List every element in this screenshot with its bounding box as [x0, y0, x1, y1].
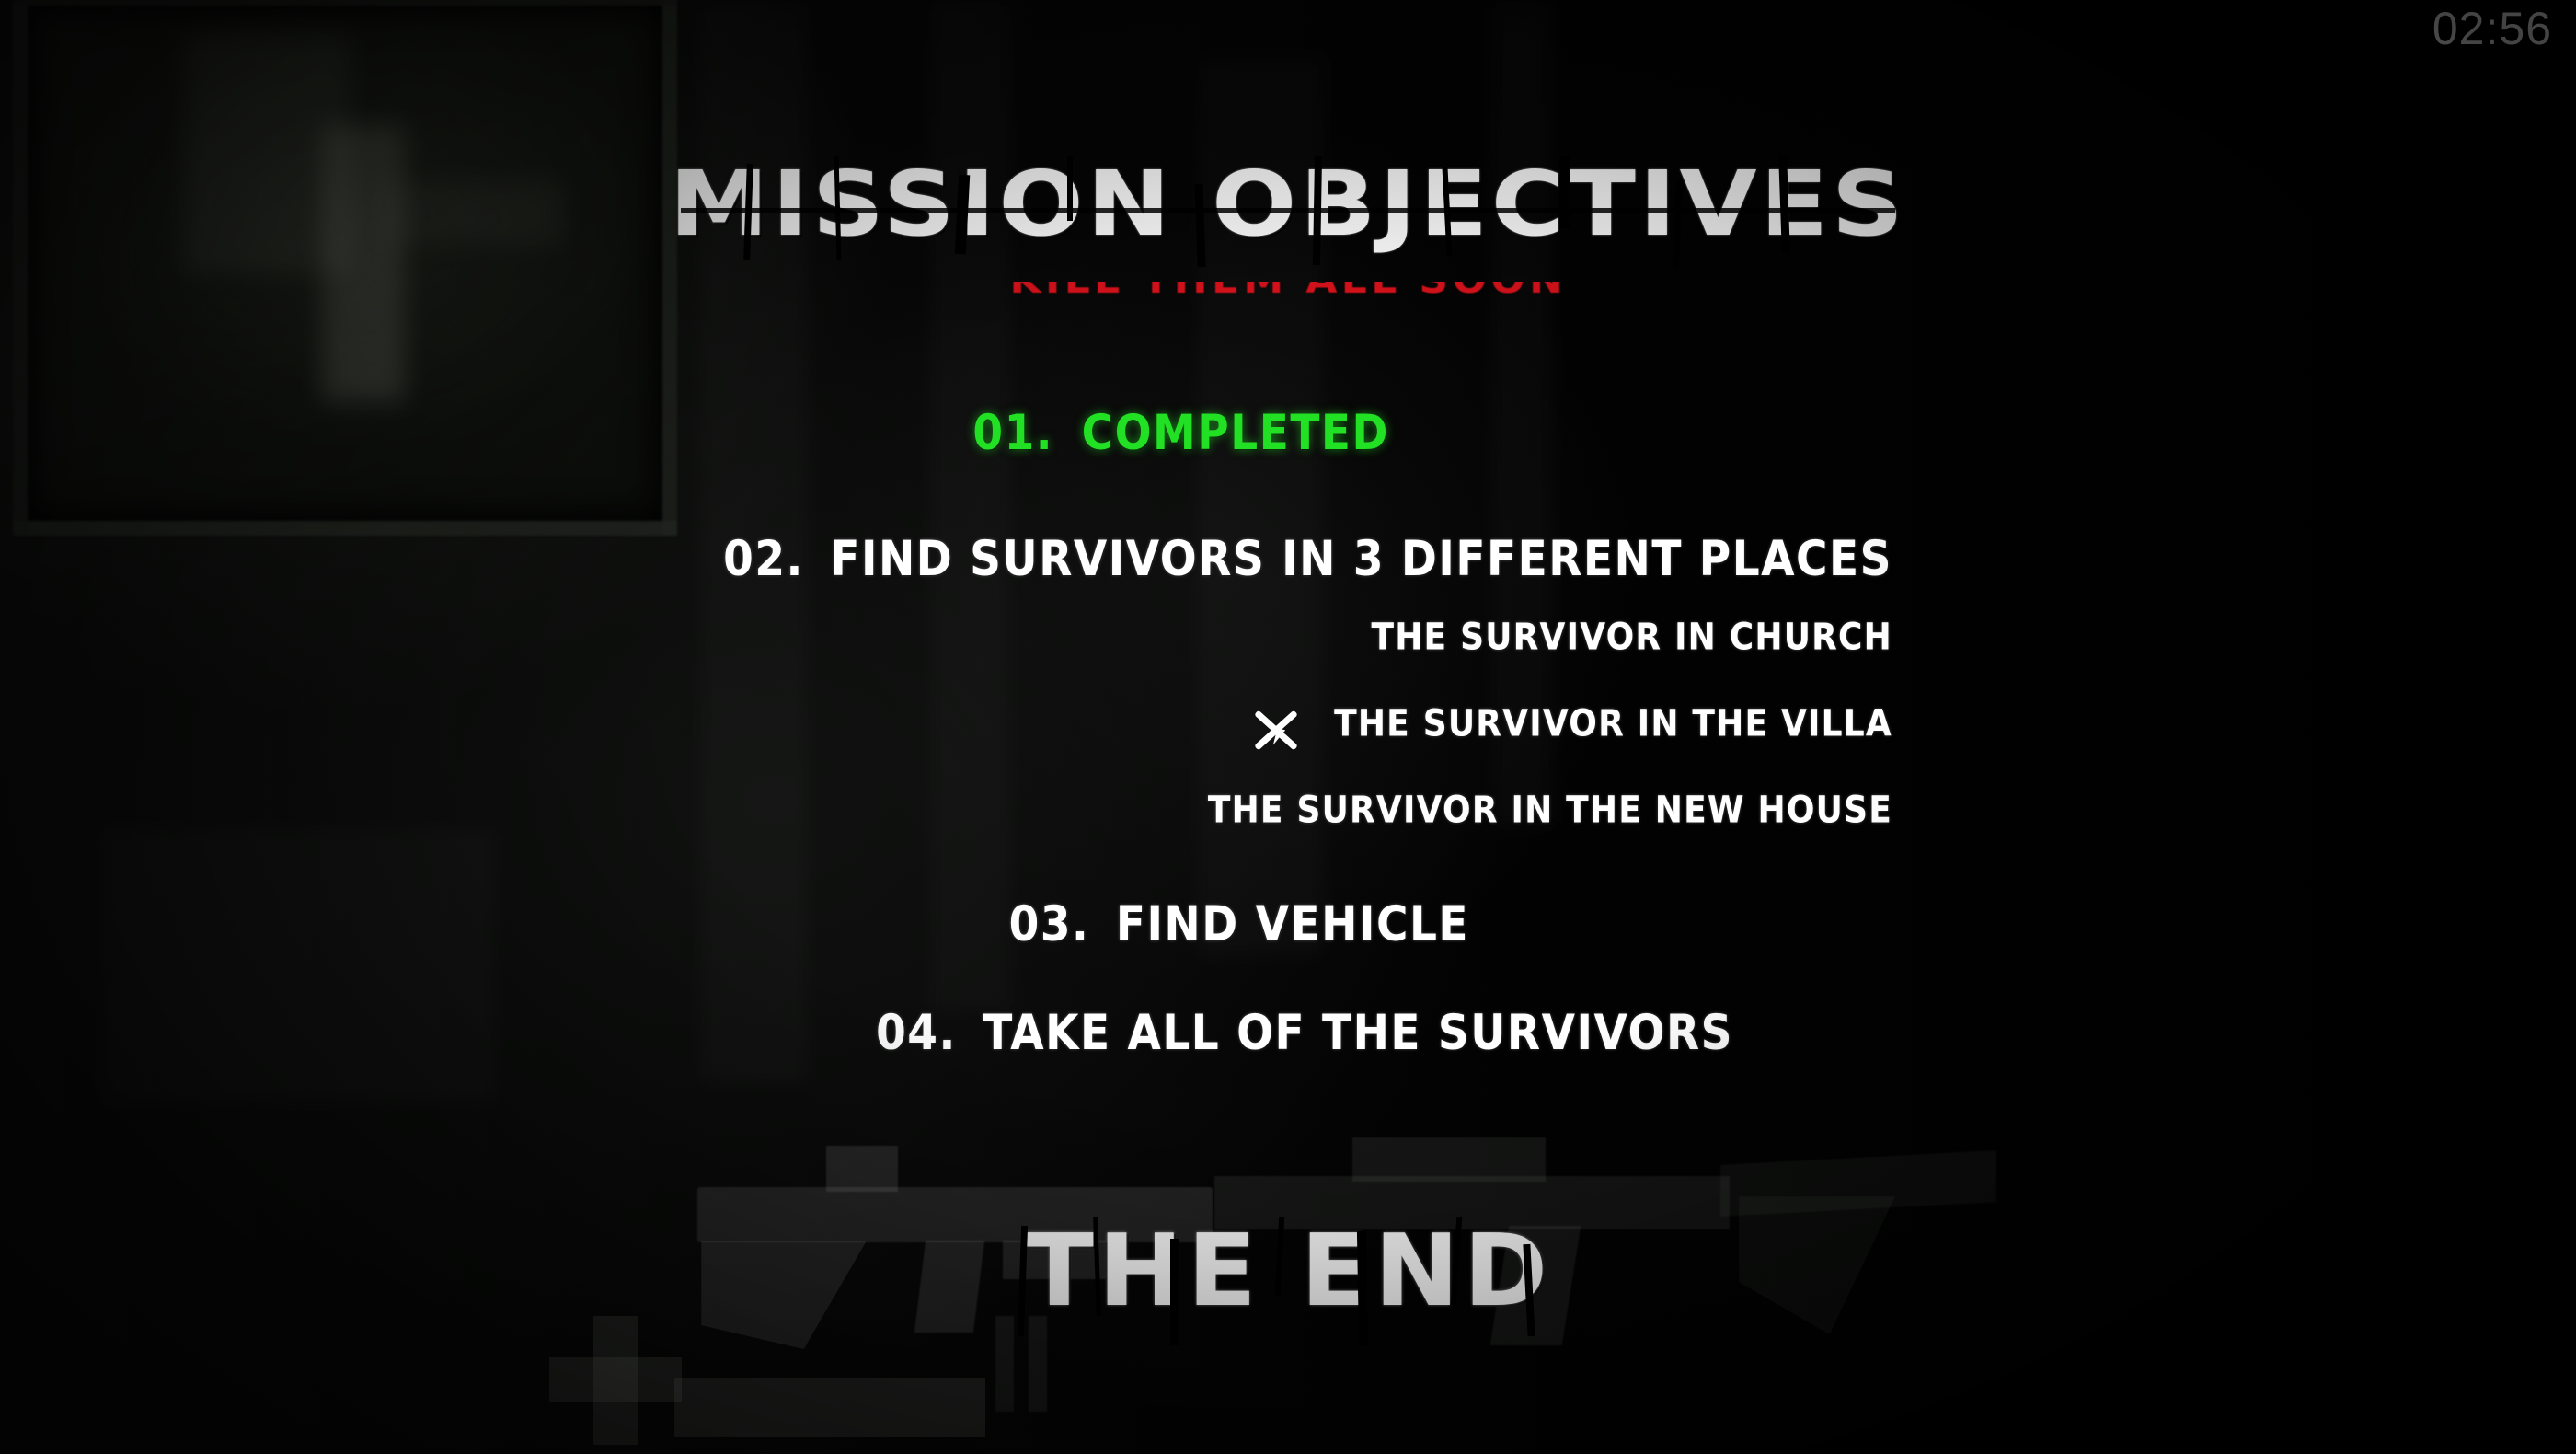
game-screen: 02:56 MISSION OBJECTIVES KILL THEM ALL S… [0, 0, 2576, 1454]
smg-detail [1029, 1316, 1047, 1412]
mission-objectives-title-wrap: MISSION OBJECTIVES [0, 155, 2576, 253]
objective-row-02[interactable]: 02. FIND SURVIVORS IN 3 DIFFERENT PLACES [0, 534, 1892, 584]
objective-row-03[interactable]: 03. FIND VEHICLE [0, 899, 1469, 950]
subitem-label: THE SURVIVOR IN THE NEW HOUSE [1208, 790, 1892, 832]
mission-timer: 02:56 [2432, 2, 2552, 55]
the-end-wrap: THE END [0, 1219, 2576, 1322]
smg-detail [995, 1316, 1014, 1412]
objective-index: 01. [972, 405, 1053, 462]
objective-label: TAKE ALL OF THE SURVIVORS [983, 1005, 1733, 1062]
objective-index: 02. [723, 531, 804, 588]
mission-subtitle: KILL THEM ALL SOON [1009, 282, 1567, 302]
objective-index: 03. [1009, 896, 1090, 953]
objective-label: FIND VEHICLE [1116, 896, 1469, 953]
objective-subitem-villa[interactable]: THE SURVIVOR IN THE VILLA [0, 705, 1892, 743]
page-title: MISSION OBJECTIVES [669, 152, 1906, 256]
mission-subtitle-wrap: KILL THEM ALL SOON [0, 282, 2576, 313]
health-bar [674, 1378, 985, 1437]
objective-index: 04. [876, 1005, 957, 1062]
objective-subitem-church[interactable]: THE SURVIVOR IN CHURCH [0, 618, 1892, 656]
subitem-label: THE SURVIVOR IN CHURCH [1371, 617, 1892, 659]
objective-label: COMPLETED [1082, 405, 1389, 462]
objective-row-04[interactable]: 04. TAKE ALL OF THE SURVIVORS [0, 1008, 1733, 1058]
health-cross-icon [549, 1357, 682, 1402]
smg-weapon-icon [826, 1146, 898, 1192]
objective-subitem-new-house[interactable]: THE SURVIVOR IN THE NEW HOUSE [0, 791, 1892, 829]
the-end-text: THE END [1024, 1213, 1551, 1328]
objective-row-01[interactable]: 01. COMPLETED [0, 408, 1389, 458]
pistol-weapon-icon [1352, 1137, 1546, 1182]
subitem-label: THE SURVIVOR IN THE VILLA [1334, 703, 1892, 745]
objective-label: FIND SURVIVORS IN 3 DIFFERENT PLACES [830, 531, 1892, 588]
